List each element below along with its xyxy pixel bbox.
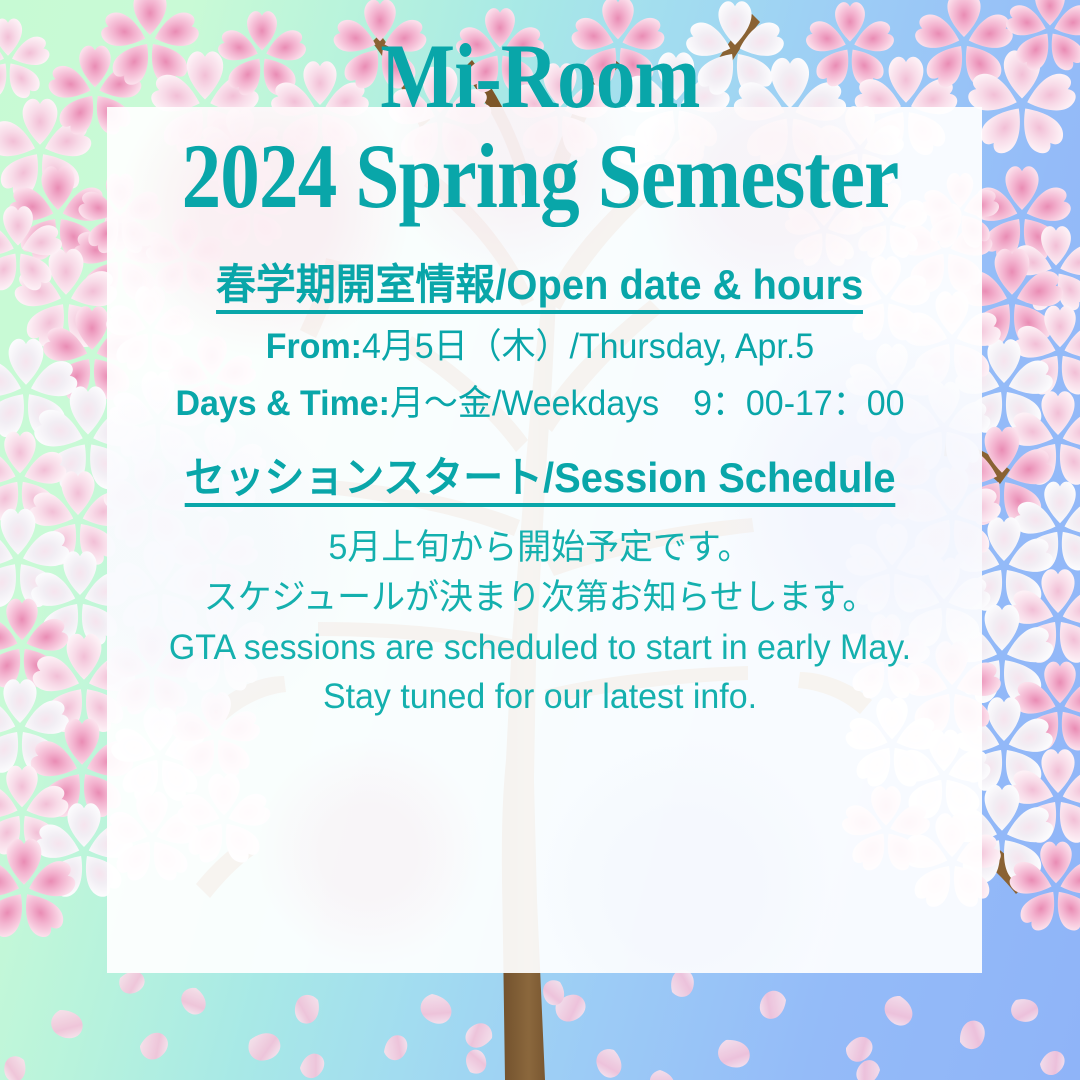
info-label-from: From: xyxy=(266,327,362,366)
info-line-from: From:4月5日（木）/Thursday, Apr.5 xyxy=(16,324,1064,371)
page-title-line-2: 2024 Spring Semester xyxy=(76,130,1005,224)
body-line-3: GTA sessions are scheduled to start in e… xyxy=(16,623,1064,673)
body-line-2: スケジュールが決まり次第お知らせします。 xyxy=(16,573,1064,623)
title-block: Mi-Room 2024 Spring Semester xyxy=(0,30,1080,224)
section-heading-session-schedule: セッションスタート/Session Schedule xyxy=(185,455,896,507)
section-open-hours: 春学期開室情報/Open date & hours From:4月5日（木）/T… xyxy=(0,262,1080,428)
body-line-4: Stay tuned for our latest info. xyxy=(16,672,1064,722)
page-title-line-1: Mi-Room xyxy=(76,30,1005,124)
info-label-days-time: Days & Time: xyxy=(176,384,390,423)
poster-content: Mi-Room 2024 Spring Semester 春学期開室情報/Ope… xyxy=(0,0,1080,1080)
body-line-1: 5月上旬から開始予定です。 xyxy=(16,523,1064,573)
section-session-schedule: セッションスタート/Session Schedule 5月上旬から開始予定です。… xyxy=(0,455,1080,722)
section-heading-open-hours: 春学期開室情報/Open date & hours xyxy=(216,262,863,314)
info-value-days-time: 月〜金/Weekdays 9：00-17：00 xyxy=(390,384,904,423)
info-line-days-time: Days & Time:月〜金/Weekdays 9：00-17：00 xyxy=(16,381,1064,428)
info-value-from: 4月5日（木）/Thursday, Apr.5 xyxy=(362,327,814,366)
poster-canvas: Mi-Room 2024 Spring Semester 春学期開室情報/Ope… xyxy=(0,0,1080,1080)
